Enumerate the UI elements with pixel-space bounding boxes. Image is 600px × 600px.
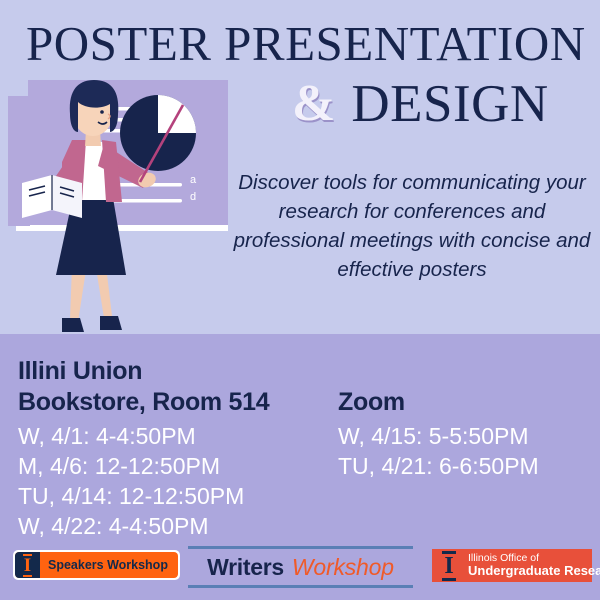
eye xyxy=(100,110,104,114)
venue-name: Illini Union Bookstore, Room 514 xyxy=(18,356,338,418)
shoe-left xyxy=(62,318,84,332)
session-item: TU, 4/21: 6-6:50PM xyxy=(338,451,588,481)
logo-undergraduate-research[interactable]: I Illinois Office of Undergraduate Resea… xyxy=(432,549,592,582)
poster-canvas: a d xyxy=(0,0,600,600)
session-list: W, 4/1: 4-4:50PM M, 4/6: 12-12:50PM TU, … xyxy=(18,421,338,541)
illinois-i-icon: I xyxy=(436,549,462,582)
speakers-workshop-label: Speakers Workshop xyxy=(40,558,178,572)
shoe-right xyxy=(100,316,122,330)
logo-writers-workshop[interactable]: Writers Workshop xyxy=(188,546,413,588)
logo-speakers-workshop[interactable]: I Speakers Workshop xyxy=(13,550,180,580)
schedule-column-inperson: Illini Union Bookstore, Room 514 W, 4/1:… xyxy=(18,356,338,541)
session-item: W, 4/1: 4-4:50PM xyxy=(18,421,338,451)
board-glyph-b: d xyxy=(190,191,196,203)
undergraduate-research-text: Illinois Office of Undergraduate Researc… xyxy=(468,553,600,578)
presenter-illustration: a d xyxy=(0,70,235,340)
pie-chart xyxy=(120,95,196,171)
description-text: Discover tools for communicating your re… xyxy=(228,168,596,284)
page-title-line1: POSTER PRESENTATION xyxy=(26,18,586,70)
speakers-workshop-pill: I Speakers Workshop xyxy=(15,552,178,578)
page-title-line2: DESIGN xyxy=(351,78,548,131)
schedule-column-zoom: Zoom W, 4/15: 5-5:50PM TU, 4/21: 6-6:50P… xyxy=(338,356,588,481)
session-list: W, 4/15: 5-5:50PM TU, 4/21: 6-6:50PM xyxy=(338,421,588,481)
venue-line-1: Zoom xyxy=(338,387,588,418)
writers-workshop-word1: Writers xyxy=(207,554,284,581)
illinois-i-glyph: I xyxy=(442,551,455,581)
board-ledge xyxy=(16,225,228,231)
page-title-line2-row: & DESIGN xyxy=(292,72,600,136)
footer-logos: I Speakers Workshop Writers Workshop I I… xyxy=(0,548,600,594)
undergraduate-research-line2: Undergraduate Research xyxy=(468,564,600,578)
writers-workshop-word2: Workshop xyxy=(292,554,394,581)
session-item: TU, 4/14: 12-12:50PM xyxy=(18,481,338,511)
session-item: W, 4/15: 5-5:50PM xyxy=(338,421,588,451)
venue-line-1: Illini Union xyxy=(18,356,338,387)
illinois-i-glyph: I xyxy=(23,554,32,577)
illinois-i-icon: I xyxy=(15,552,40,578)
session-item: M, 4/6: 12-12:50PM xyxy=(18,451,338,481)
board-glyph-a: a xyxy=(190,174,197,186)
venue-name: Zoom xyxy=(338,387,588,418)
session-item: W, 4/22: 4-4:50PM xyxy=(18,511,338,541)
venue-line-2: Bookstore, Room 514 xyxy=(18,387,338,418)
ampersand-glyph: & xyxy=(292,78,335,130)
